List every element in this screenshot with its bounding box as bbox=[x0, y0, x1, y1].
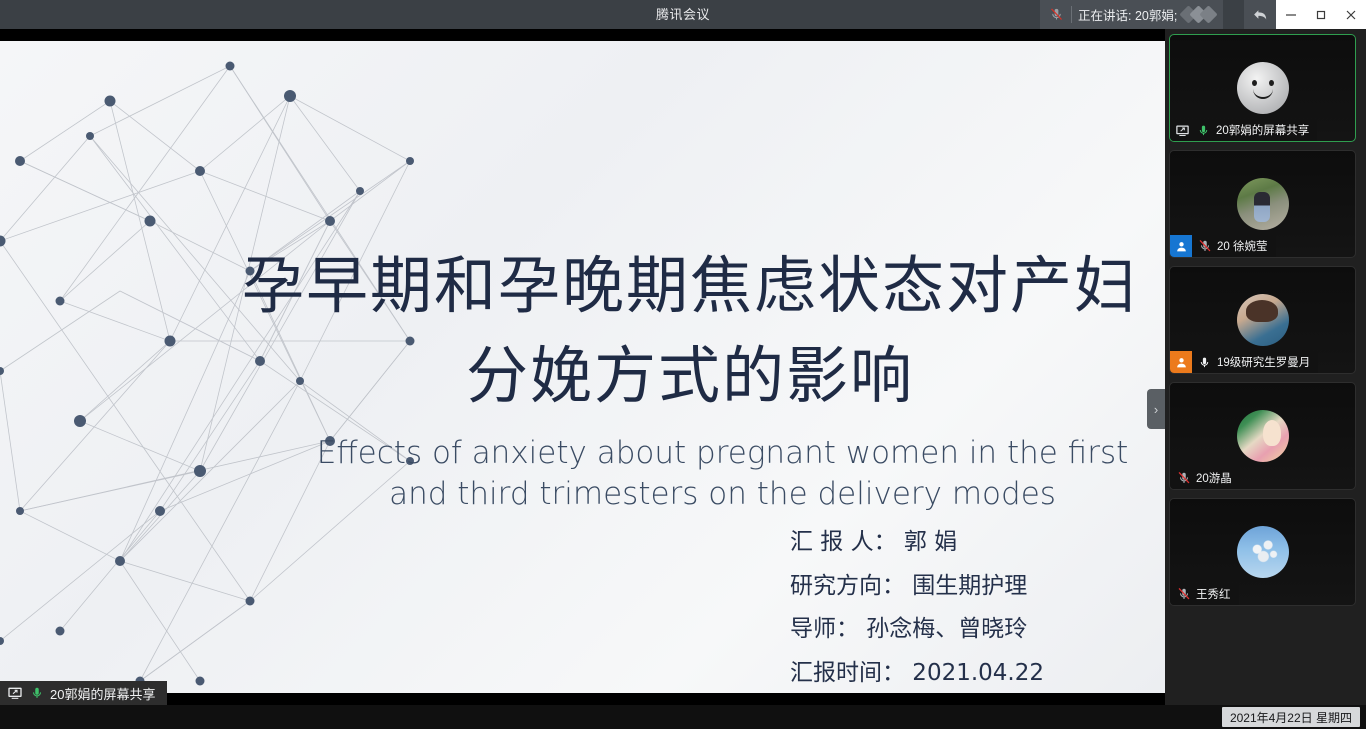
person-badge-icon bbox=[1170, 351, 1192, 373]
audio-wave-icon bbox=[1185, 8, 1215, 21]
microphone-muted-icon bbox=[1175, 586, 1192, 603]
slide-title: 孕早期和孕晚期焦虑状态对产妇分娩方式的影响 bbox=[240, 241, 1140, 421]
avatar bbox=[1237, 294, 1289, 346]
participant-name: 20游晶 bbox=[1196, 470, 1232, 486]
meta-research-field: 研究方向： 围生期护理 bbox=[790, 565, 1110, 609]
meeting-window: 腾讯会议 正在讲话: 20郭娟; bbox=[0, 0, 1366, 729]
screen-share-owner: 20郭娟的屏幕共享 bbox=[50, 684, 155, 703]
microphone-on-icon bbox=[1196, 354, 1213, 371]
participant-tile[interactable]: 王秀红 bbox=[1169, 498, 1356, 606]
participant-tile[interactable]: 20游晶 bbox=[1169, 382, 1356, 490]
participant-status-bar: 王秀红 bbox=[1170, 583, 1239, 605]
presentation-slide: 孕早期和孕晚期焦虑状态对产妇分娩方式的影响 Effects of anxiety… bbox=[0, 41, 1165, 693]
back-button[interactable] bbox=[1244, 0, 1276, 29]
microphone-muted-icon bbox=[1175, 470, 1192, 487]
avatar bbox=[1237, 526, 1289, 578]
taskbar-clock[interactable]: 2021年4月22日 星期四 bbox=[1222, 707, 1360, 727]
microphone-on-icon bbox=[28, 685, 45, 702]
screen-share-icon bbox=[6, 685, 23, 702]
participant-rail: 20郭娟的屏幕共享 bbox=[1165, 29, 1366, 705]
collapse-panel-handle[interactable]: › bbox=[1147, 389, 1165, 429]
participant-name: 20 徐婉莹 bbox=[1217, 238, 1268, 254]
screen-share-icon bbox=[1174, 122, 1191, 139]
participant-status-bar: 20 徐婉莹 bbox=[1170, 235, 1276, 257]
chevron-right-icon: › bbox=[1154, 403, 1158, 416]
microphone-muted-icon bbox=[1196, 238, 1213, 255]
participant-name: 19级研究生罗曼月 bbox=[1217, 354, 1310, 370]
participant-tile[interactable]: 20 徐婉莹 bbox=[1169, 150, 1356, 258]
participant-tile[interactable]: 20郭娟的屏幕共享 bbox=[1169, 34, 1356, 142]
shared-screen-stage: 孕早期和孕晚期焦虑状态对产妇分娩方式的影响 Effects of anxiety… bbox=[0, 29, 1165, 705]
back-arrow-icon bbox=[1252, 6, 1269, 23]
meta-date: 汇报时间： 2021.04.22 bbox=[790, 652, 1110, 694]
microphone-muted-icon bbox=[1048, 6, 1065, 23]
meta-presenter: 汇 报 人： 郭 娟 bbox=[790, 521, 1110, 565]
speaking-indicator[interactable]: 正在讲话: 20郭娟; bbox=[1040, 0, 1223, 29]
minimize-button[interactable] bbox=[1276, 0, 1306, 29]
speaking-text: 正在讲话: 20郭娟; bbox=[1078, 5, 1177, 24]
close-button[interactable] bbox=[1336, 0, 1366, 29]
divider bbox=[1071, 6, 1072, 23]
meta-advisors: 导师： 孙念梅、曾晓玲 bbox=[790, 608, 1110, 652]
screen-share-overlay-label: 20郭娟的屏幕共享 bbox=[0, 681, 167, 705]
avatar bbox=[1237, 178, 1289, 230]
window-controls bbox=[1276, 0, 1366, 29]
avatar bbox=[1237, 410, 1289, 462]
participant-tile[interactable]: 19级研究生罗曼月 bbox=[1169, 266, 1356, 374]
taskbar: 2021年4月22日 星期四 bbox=[0, 705, 1366, 729]
maximize-button[interactable] bbox=[1306, 0, 1336, 29]
participant-status-bar: 20游晶 bbox=[1170, 467, 1240, 489]
participant-status-bar: 20郭娟的屏幕共享 bbox=[1170, 119, 1317, 141]
person-badge-icon bbox=[1170, 235, 1192, 257]
slide-meta-block: 汇 报 人： 郭 娟 研究方向： 围生期护理 导师： 孙念梅、曾晓玲 汇报时间：… bbox=[790, 521, 1110, 693]
avatar bbox=[1237, 62, 1289, 114]
participant-name: 王秀红 bbox=[1196, 586, 1231, 602]
participant-status-bar: 19级研究生罗曼月 bbox=[1170, 351, 1318, 373]
title-bar: 腾讯会议 正在讲话: 20郭娟; bbox=[0, 0, 1366, 29]
participant-name: 20郭娟的屏幕共享 bbox=[1216, 122, 1309, 138]
microphone-on-icon bbox=[1195, 122, 1212, 139]
slide-subtitle: Effects of anxiety about pregnant women … bbox=[300, 433, 1145, 515]
